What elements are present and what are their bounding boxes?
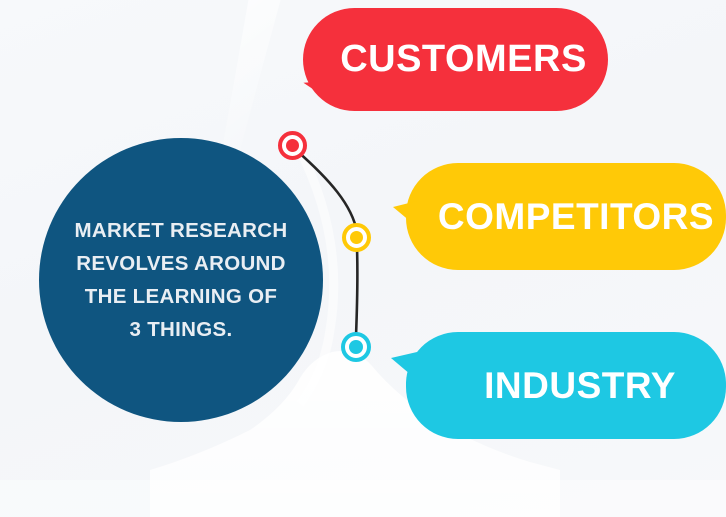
- bubble-body-competitors: COMPETITORS: [406, 163, 726, 270]
- node-core-industry: [349, 340, 363, 354]
- bubble-customers[interactable]: CUSTOMERS: [303, 8, 608, 111]
- bubble-tail-industry: [391, 352, 417, 380]
- bubble-label-customers: CUSTOMERS: [340, 38, 587, 81]
- node-core-customers: [286, 139, 299, 152]
- bubble-tail-customers: [303, 81, 326, 99]
- bubble-label-competitors: COMPETITORS: [438, 196, 714, 238]
- node-marker-industry[interactable]: [341, 332, 371, 362]
- infographic-canvas: MARKET RESEARCH REVOLVES AROUND THE LEAR…: [0, 0, 726, 517]
- bubble-label-industry: INDUSTRY: [484, 365, 676, 407]
- bubble-competitors[interactable]: COMPETITORS: [406, 163, 726, 270]
- bubble-tail-competitors: [393, 201, 417, 227]
- node-core-competitors: [350, 231, 363, 244]
- bubble-body-customers: CUSTOMERS: [303, 8, 608, 111]
- node-marker-customers[interactable]: [278, 131, 307, 160]
- bubble-body-industry: INDUSTRY: [406, 332, 726, 439]
- node-marker-competitors[interactable]: [342, 223, 371, 252]
- bubble-industry[interactable]: INDUSTRY: [406, 332, 726, 439]
